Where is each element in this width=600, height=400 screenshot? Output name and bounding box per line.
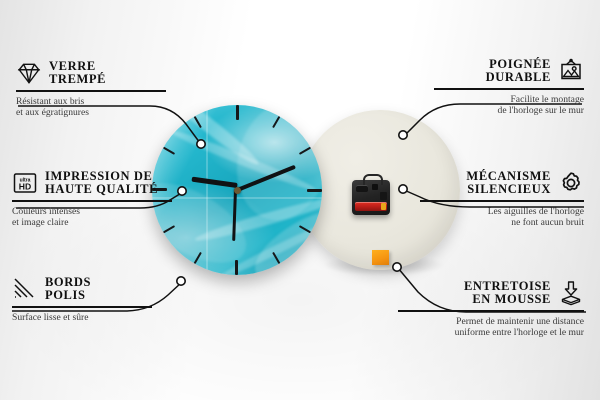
movement-detail [356,185,368,192]
feature-header: BORDS POLIS [12,276,152,302]
foam-spacer [372,250,389,265]
feature-description-line2: ne font aucun bruit [420,217,584,228]
feature-header: ultra HD IMPRESSION DE HAUTE QUALITÉ [12,170,172,196]
feature-header: MÉCANISME SILENCIEUX [420,170,584,196]
feature-verre-trempe: VERRE TREMPÉ Résistant aux bris et aux é… [16,60,166,118]
battery [355,202,387,211]
feature-title: ENTRETOISE EN MOUSSE [464,280,551,306]
divider [12,200,172,202]
divider [12,306,152,308]
feature-description-line2: de l'horloge sur le mur [434,105,584,116]
clock-face [152,105,322,275]
feature-poignee-durable: POIGNÉE DURABLE Facilite le montage de l… [434,58,584,116]
feature-description-line1: Les aiguilles de l'horloge [420,206,584,217]
feature-mecanisme-silencieux: MÉCANISME SILENCIEUX Les aiguilles de l'… [420,170,584,228]
ultra-hd-icon: ultra HD [12,170,38,196]
polished-edges-icon [12,276,38,302]
feature-title: IMPRESSION DE HAUTE QUALITÉ [45,170,158,196]
feature-description-line1: Couleurs intenses [12,206,172,217]
gear-icon [558,170,584,196]
feature-description-line2: uniforme entre l'horloge et le mur [398,327,584,338]
diamond-icon [16,60,42,86]
feature-title: BORDS POLIS [45,276,91,302]
svg-text:HD: HD [19,182,31,192]
feature-description-line1: Surface lisse et sûre [12,312,152,323]
hanging-frame-icon [558,58,584,84]
divider [16,90,166,92]
divider [420,200,584,202]
feature-title: MÉCANISME SILENCIEUX [466,170,551,196]
feature-description-line2: et aux égratignures [16,107,166,118]
feature-bords-polis: BORDS POLIS Surface lisse et sûre [12,276,152,323]
feature-description-line2: et image claire [12,217,172,228]
movement-detail [372,184,378,190]
foam-spacer-icon [558,280,584,306]
feature-title: VERRE TREMPÉ [49,60,106,86]
movement-detail [380,192,387,200]
feature-description-line1: Permet de maintenir une distance [398,316,584,327]
feature-entretoise-en-mousse: ENTRETOISE EN MOUSSE Permet de maintenir… [398,280,584,338]
feature-header: POIGNÉE DURABLE [434,58,584,84]
feature-header: VERRE TREMPÉ [16,60,166,86]
divider [434,88,584,90]
feature-header: ENTRETOISE EN MOUSSE [398,280,584,306]
infographic-canvas: VERRE TREMPÉ Résistant aux bris et aux é… [0,0,600,400]
feature-description-line1: Facilite le montage [434,94,584,105]
divider [398,310,584,312]
hand-center-cap [234,187,241,194]
feature-impression-haute-qualite: ultra HD IMPRESSION DE HAUTE QUALITÉ Cou… [12,170,172,228]
feature-description-line1: Résistant aux bris [16,96,166,107]
feature-title: POIGNÉE DURABLE [486,58,551,84]
quartz-movement [352,180,390,215]
